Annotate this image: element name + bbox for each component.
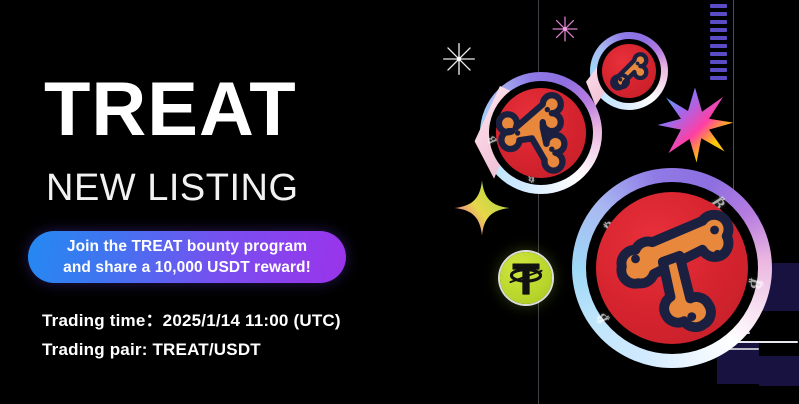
dash-bar <box>710 60 727 64</box>
dash-bar <box>710 52 727 56</box>
trading-pair-text: Trading pair: TREAT/USDT <box>42 335 341 364</box>
treat-coin-small <box>590 32 668 110</box>
dash-bar <box>710 12 727 16</box>
banner-text-column: TREAT NEW LISTING Join the TREAT bounty … <box>0 0 430 404</box>
dash-bar <box>710 36 727 40</box>
checker-square <box>759 356 799 386</box>
vertical-guide-line-left <box>538 0 539 404</box>
dash-bar <box>710 76 727 80</box>
bounty-line-2: and share a 10,000 USDT reward! <box>63 258 311 278</box>
dash-bar <box>710 20 727 24</box>
white-sparkle-icon <box>442 42 476 76</box>
usdt-coin <box>500 252 552 304</box>
bounty-program-badge[interactable]: Join the TREAT bounty program and share … <box>28 231 346 283</box>
new-listing-headline: NEW LISTING <box>46 168 299 208</box>
token-name-title: TREAT <box>44 72 297 148</box>
dash-bar <box>710 68 727 72</box>
trading-details: Trading time：2025/1/14 11:00 (UTC) Tradi… <box>42 306 341 364</box>
treat-new-listing-banner: TREAT NEW LISTING Join the TREAT bounty … <box>0 0 799 404</box>
dash-bar-stack-decoration <box>710 4 727 80</box>
treat-coin-main: ₿ ₿ ₿ ₿ <box>572 168 772 368</box>
four-point-star-icon <box>452 178 512 238</box>
treat-coin-medium: ₿ ₿ ₿ <box>480 72 602 194</box>
treat-bone-logo-icon <box>496 88 586 178</box>
dash-bar <box>710 44 727 48</box>
banner-artwork-panel: ₿ ₿ ₿ <box>420 0 799 404</box>
dash-bar <box>710 4 727 8</box>
bounty-badge-text: Join the TREAT bounty program and share … <box>28 231 346 283</box>
tether-usdt-icon <box>500 252 552 304</box>
dash-bar <box>710 28 727 32</box>
coin-face <box>496 88 586 178</box>
treat-bone-logo-icon <box>596 192 748 344</box>
coin-face <box>602 44 656 98</box>
ring-currency-symbol: ₿ <box>745 276 764 290</box>
trading-time-text: Trading time：2025/1/14 11:00 (UTC) <box>42 306 341 335</box>
gradient-burst-star-icon <box>656 86 734 164</box>
coin-face <box>596 192 748 344</box>
treat-bone-logo-icon <box>602 44 656 98</box>
pink-sparkle-icon <box>551 15 579 43</box>
bounty-line-1: Join the TREAT bounty program <box>67 237 307 257</box>
